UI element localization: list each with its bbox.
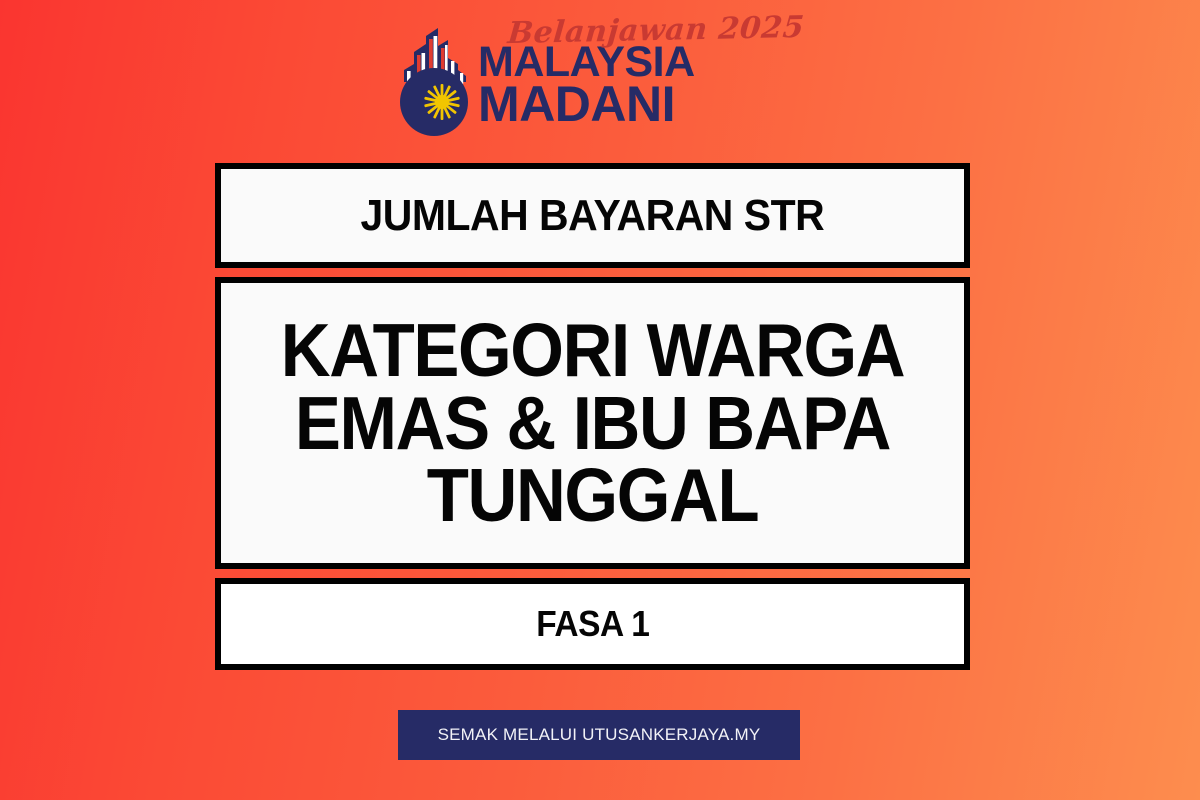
brand-logo-lockup: Belanjawan 2025 MALAYSIA MADANI — [0, 14, 1200, 138]
brand-title: MALAYSIA MADANI — [478, 44, 804, 126]
card-kategori: KATEGORI WARGA EMAS & IBU BAPA TUNGGAL — [215, 277, 970, 569]
card-phase-text: FASA 1 — [536, 603, 649, 645]
card-category-text: KATEGORI WARGA EMAS & IBU BAPA TUNGGAL — [260, 314, 925, 532]
brand-script-line: Belanjawan 2025 — [506, 13, 805, 49]
brand-logo-inner: Belanjawan 2025 MALAYSIA MADANI — [396, 14, 804, 138]
card-heading-text: JUMLAH BAYARAN STR — [361, 191, 825, 241]
brand-title-line-2: MADANI — [478, 82, 804, 126]
brand-wordmark: Belanjawan 2025 MALAYSIA MADANI — [478, 14, 804, 126]
card-fasa: FASA 1 — [215, 578, 970, 670]
footer-cta-banner[interactable]: SEMAK MELALUI UTUSANKERJAYA.MY — [398, 710, 800, 760]
malaysia-madani-logo-icon — [396, 26, 472, 138]
footer-cta-text: SEMAK MELALUI UTUSANKERJAYA.MY — [438, 725, 761, 745]
announcement-card-stack: JUMLAH BAYARAN STR KATEGORI WARGA EMAS &… — [215, 163, 970, 670]
card-jumlah-bayaran-str: JUMLAH BAYARAN STR — [215, 163, 970, 268]
